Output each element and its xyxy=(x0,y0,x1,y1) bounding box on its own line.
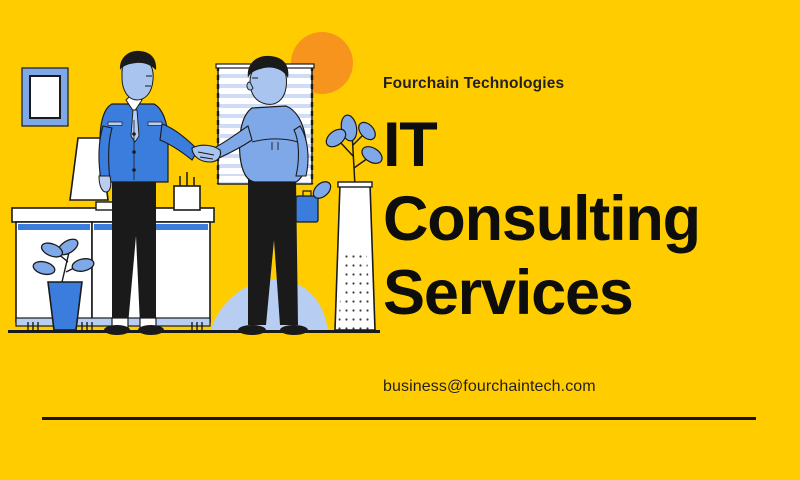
brand-name: Fourchain Technologies xyxy=(383,75,564,93)
floor-line xyxy=(8,330,380,333)
floor-vase xyxy=(310,114,385,332)
handshake xyxy=(192,145,221,162)
banner-root: Fourchain Technologies IT Consulting Ser… xyxy=(0,0,800,480)
pen-holder xyxy=(174,172,200,210)
contact-email: business@fourchaintech.com xyxy=(383,378,596,396)
illustration-svg xyxy=(0,0,400,360)
headline-line-3: Services xyxy=(383,256,800,330)
page-title: IT Consulting Services xyxy=(383,108,800,330)
headline-line-2: Consulting xyxy=(383,182,800,256)
headline-line-1: IT xyxy=(383,108,800,182)
wall-picture-frame xyxy=(22,68,68,126)
text-block: Fourchain Technologies IT Consulting Ser… xyxy=(383,0,783,480)
illustration xyxy=(0,0,400,360)
divider-rule xyxy=(42,417,756,420)
